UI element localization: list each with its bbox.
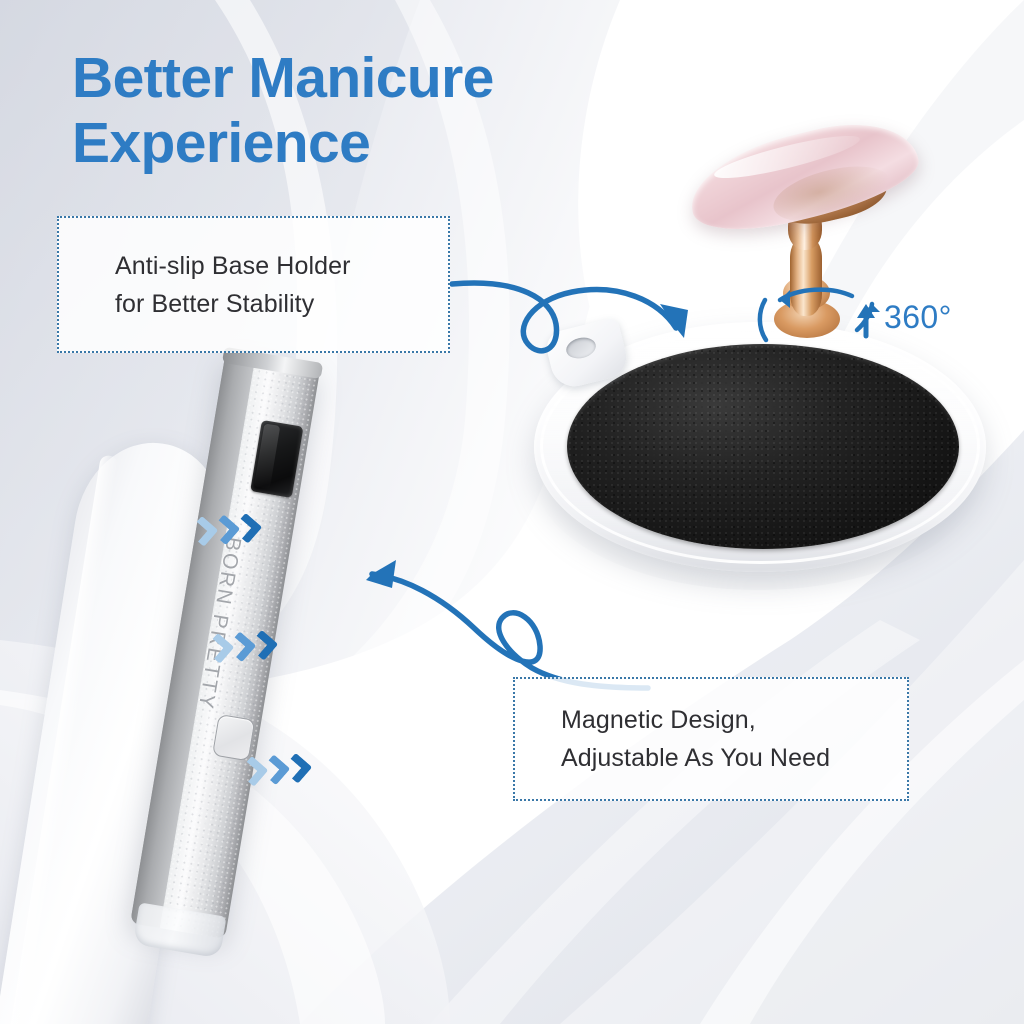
rotation-arc-right-icon <box>857 304 872 330</box>
callout-anti-slip-base-holder: Anti-slip Base Holder for Better Stabili… <box>57 216 450 353</box>
callout-line-2: for Better Stability <box>115 285 448 323</box>
callout-magnetic-design: Magnetic Design, Adjustable As You Need <box>513 677 909 801</box>
chevron-right-icon <box>239 756 261 791</box>
callout-line-1: Anti-slip Base Holder <box>115 247 448 285</box>
pen-power-button[interactable] <box>212 714 255 762</box>
product-feature-graphic: Better Manicure Experience BORN PRETTY <box>0 0 1024 1024</box>
anti-slip-pad-texture <box>567 344 959 549</box>
chevron-right-icon <box>249 630 271 665</box>
callout-line-2: Adjustable As You Need <box>561 739 907 777</box>
chevron-right-icon <box>189 516 211 551</box>
up-arrow-icon <box>857 304 875 318</box>
chevron-right-icon <box>233 513 255 548</box>
chevron-triple-right-icon <box>205 630 271 668</box>
chevron-right-icon <box>205 633 227 668</box>
chevron-triple-right-icon <box>189 513 255 551</box>
chevron-right-icon <box>283 753 305 788</box>
callout-line-1: Magnetic Design, <box>561 701 907 739</box>
arrowhead-icon <box>864 304 880 312</box>
chevron-right-icon <box>261 754 283 789</box>
chevron-triple-right-icon <box>239 753 305 791</box>
chevron-right-icon <box>227 631 249 666</box>
page-title: Better Manicure Experience <box>72 46 672 176</box>
rotation-degree-label: 360° <box>884 299 952 336</box>
chevron-right-icon <box>211 514 233 549</box>
